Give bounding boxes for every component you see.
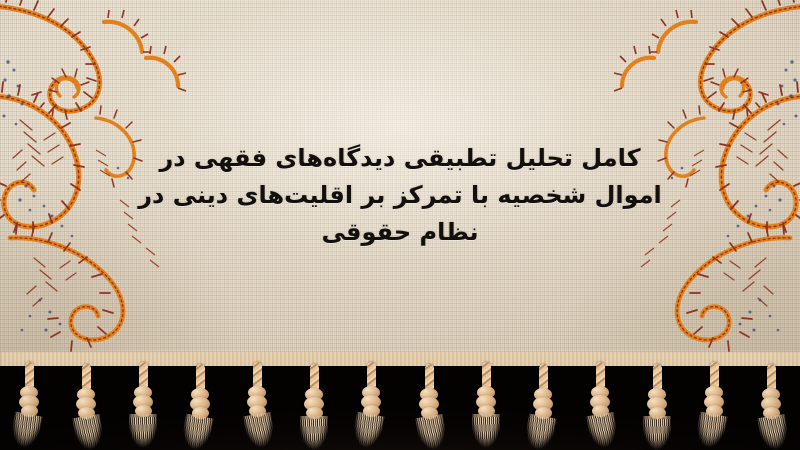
tassel-skirt <box>522 413 556 450</box>
tassel-skirt <box>415 414 448 450</box>
tassel-skirt <box>757 414 790 450</box>
tassel-skirt <box>72 414 105 450</box>
tassel-skirt <box>350 411 384 450</box>
tassel <box>758 364 784 450</box>
title-line-3: نظام حقوقی <box>120 214 680 251</box>
tassel <box>644 364 670 450</box>
title-line-2: اموال شخصیه با تمرکز بر اقلیت‌های دینی د… <box>120 177 680 214</box>
tassel <box>530 364 556 450</box>
tassel <box>701 362 727 448</box>
tassel <box>301 364 327 450</box>
tassel <box>130 362 156 448</box>
tassel-skirt <box>129 414 157 450</box>
title-line-1: کامل تحلیل تطبیقی دیدگاه‌های فقهی در <box>120 140 680 177</box>
tassel <box>587 362 613 448</box>
tassel-skirt <box>8 411 42 450</box>
tassel <box>187 364 213 450</box>
tassel <box>358 362 384 448</box>
tassel <box>73 364 99 450</box>
tassel-skirt <box>179 413 213 450</box>
slide-canvas: کامل تحلیل تطبیقی دیدگاه‌های فقهی در امو… <box>0 0 800 450</box>
tassel-skirt <box>693 411 727 450</box>
tassel-skirt <box>472 414 500 450</box>
tassel-fringe <box>0 362 800 450</box>
tassel-skirt <box>300 416 328 450</box>
slide-title: کامل تحلیل تطبیقی دیدگاه‌های فقهی در امو… <box>120 140 680 251</box>
tassel-skirt <box>243 412 276 450</box>
tassel-skirt <box>586 412 619 450</box>
tassel <box>16 362 42 448</box>
tassel <box>473 362 499 448</box>
tassel <box>244 362 270 448</box>
tassel-skirt <box>643 416 671 450</box>
tassel <box>416 364 442 450</box>
